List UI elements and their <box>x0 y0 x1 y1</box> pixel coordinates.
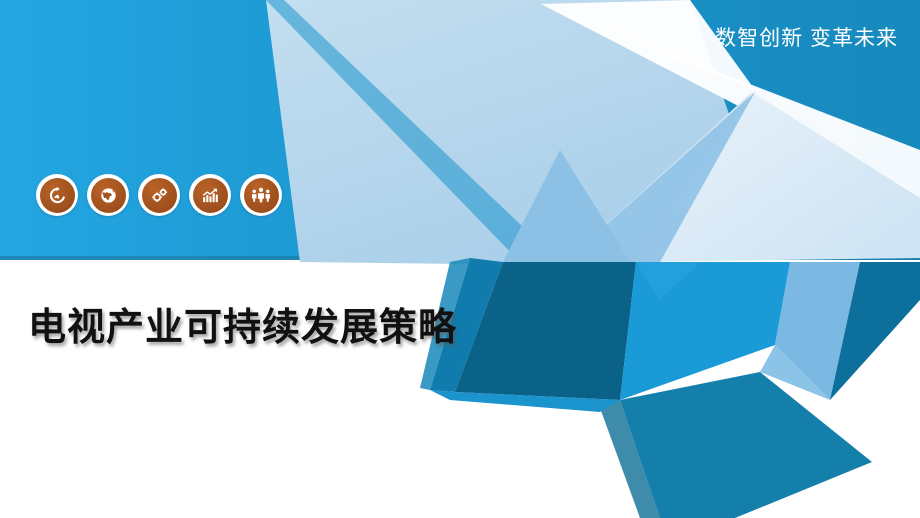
polygon-background <box>0 0 920 518</box>
tagline: 数智创新 变革未来 <box>715 26 898 51</box>
icon-row <box>36 174 282 216</box>
recycle-icon[interactable] <box>36 174 78 216</box>
gears-icon-disc <box>142 178 177 213</box>
people-group-icon[interactable] <box>240 174 282 216</box>
recycle-icon-disc <box>40 178 75 213</box>
bar-chart-icon-disc <box>193 178 228 213</box>
globe-icon[interactable] <box>87 174 129 216</box>
globe-icon-disc <box>91 178 126 213</box>
people-group-icon-disc <box>244 178 279 213</box>
bar-chart-icon[interactable] <box>189 174 231 216</box>
title-slide: 数智创新 变革未来 <box>0 0 920 518</box>
page-title: 电视产业可持续发展策略 <box>28 296 457 351</box>
gears-icon[interactable] <box>138 174 180 216</box>
